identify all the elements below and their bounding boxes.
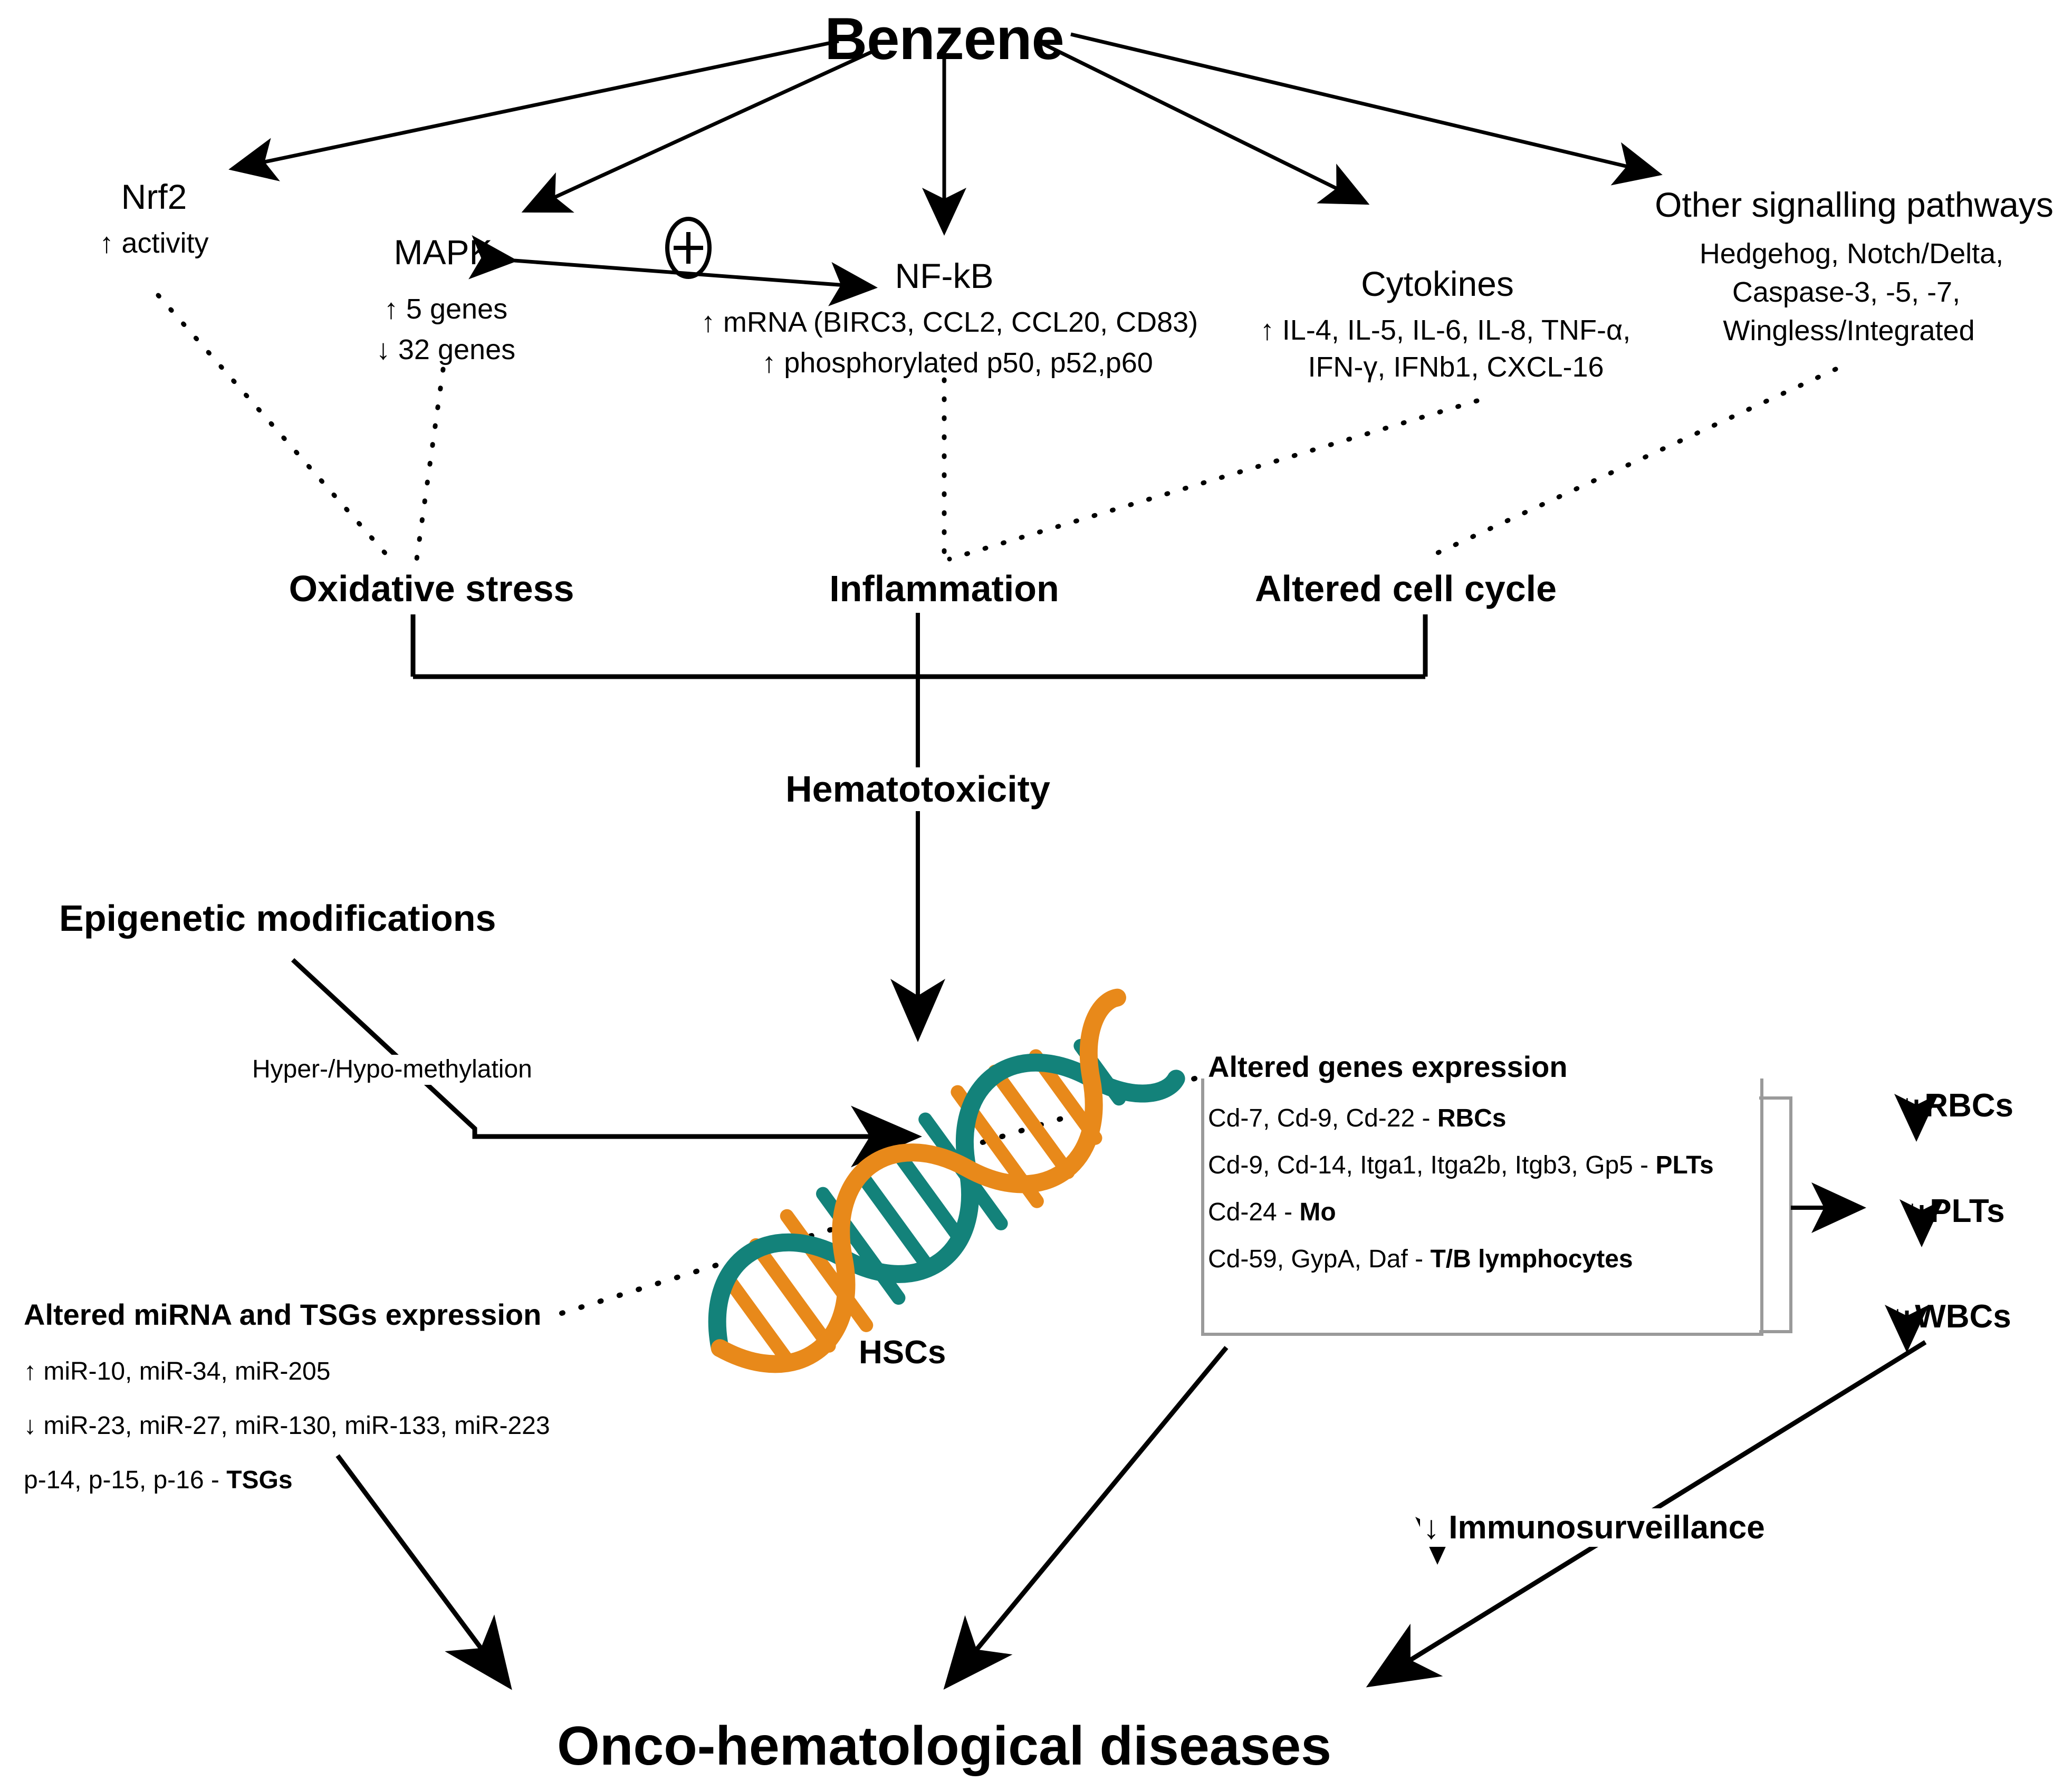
node-mapk-detail-up: ↑ 5 genes — [384, 293, 507, 326]
dotted-genes-box-to-dna — [897, 1079, 1195, 1168]
dotted-genes-pointer — [897, 1079, 1195, 1168]
node-onco-hematological-diseases-label: Onco-hematological diseases — [557, 1714, 1331, 1779]
node-cytokines-detail-1: ↑ IL-4, IL-5, IL-6, IL-8, TNF-α, — [1260, 314, 1630, 348]
status-badge-rbcs: ↓ RBCs — [1899, 1086, 2013, 1125]
node-other-pathways-detail-2: Caspase-3, -5, -7, — [1732, 276, 1960, 310]
dotted-other-to-altered-cycle — [1424, 369, 1836, 559]
node-other-pathways-label: Other signalling pathways — [1655, 185, 2054, 226]
hematotoxicity-bracket — [413, 614, 1425, 677]
altered-genes-row: Cd-9, Cd-14, Itga1, Itga2b, Itgb3, Gp5 -… — [1208, 1151, 1767, 1180]
plus-symbol-marker — [667, 219, 709, 277]
node-mapk-detail-down: ↓ 32 genes — [376, 333, 515, 367]
altered-genes-row: Cd-7, Cd-9, Cd-22 - RBCs — [1208, 1104, 1767, 1133]
status-badge-wbcs: ↓ WBCs — [1889, 1297, 2011, 1336]
altered-genes-list: Cd-59, GypA, Daf - — [1208, 1245, 1430, 1273]
node-oxidative-stress-label: Oxidative stress — [289, 567, 574, 611]
node-nfkb-detail-2: ↑ phosphorylated p50, p52,p60 — [762, 346, 1153, 380]
node-immunosurveillance-label: ↓ Immunosurveillance — [1420, 1508, 1768, 1547]
mapk-nfkb-link — [514, 261, 874, 287]
node-cytokines-label: Cytokines — [1361, 264, 1514, 305]
altered-mirna-tsgs-row: p-14, p-15, p-16 - TSGs — [24, 1466, 683, 1495]
altered-genes-cell: T/B lymphocytes — [1430, 1245, 1633, 1273]
arrow-benzene-to-cytokines — [1042, 43, 1366, 203]
node-mapk-label: MAPK — [394, 232, 492, 273]
altered-mirna-panel: Altered miRNA and TSGs expression ↑ miR-… — [24, 1297, 683, 1495]
altered-genes-list: Cd-24 - — [1208, 1198, 1299, 1226]
dotted-mapk-to-oxidative — [417, 369, 443, 559]
node-inflammation-label: Inflammation — [829, 567, 1059, 611]
altered-genes-row: Cd-24 - Mo — [1208, 1198, 1767, 1227]
node-epigenetic-detail: Hyper-/Hypo-methylation — [248, 1055, 536, 1085]
node-cytokines-detail-2: IFN-γ, IFNb1, CXCL-16 — [1308, 351, 1604, 384]
node-other-pathways-detail-1: Hedgehog, Notch/Delta, — [1700, 237, 2003, 271]
arrow-benzene-to-other-pathways — [1071, 34, 1659, 174]
altered-mirna-downregulated: ↓ miR-23, miR-27, miR-130, miR-133, miR-… — [24, 1411, 683, 1440]
arrow-epigenetic-to-dna — [293, 960, 913, 1137]
altered-genes-heading: Altered genes expression — [1208, 1049, 1767, 1084]
altered-genes-list: Cd-9, Cd-14, Itga1, Itga2b, Itgb3, Gp5 - — [1208, 1151, 1655, 1179]
altered-genes-cell: RBCs — [1437, 1104, 1507, 1132]
altered-mirna-upregulated: ↑ miR-10, miR-34, miR-205 — [24, 1357, 683, 1386]
altered-genes-panel: Altered genes expression Cd-7, Cd-9, Cd-… — [1208, 1049, 1767, 1274]
node-altered-cell-cycle-label: Altered cell cycle — [1255, 567, 1557, 611]
page-title: Benzene — [824, 4, 1064, 74]
altered-mirna-heading: Altered miRNA and TSGs expression — [24, 1297, 683, 1332]
altered-mirna-tsgs-label: TSGs — [226, 1466, 292, 1494]
node-epigenetic-label: Epigenetic modifications — [59, 897, 496, 940]
node-hscs-label: HSCs — [859, 1333, 946, 1372]
altered-genes-cell: Mo — [1299, 1198, 1336, 1226]
arrow-benzene-to-nrf2 — [232, 41, 839, 169]
altered-genes-cell: PLTs — [1655, 1151, 1713, 1179]
node-nrf2-label: Nrf2 — [121, 177, 187, 218]
arrow-genes-to-onco — [949, 1347, 1226, 1682]
node-nrf2-detail: ↑ activity — [99, 227, 208, 261]
epigenetic-arrow — [293, 960, 913, 1137]
dotted-nrf2-to-oxidative — [158, 295, 390, 559]
arrow-benzene-to-mapk — [525, 50, 876, 211]
arrow-mapk-nfkb-bidirectional — [514, 261, 874, 287]
altered-mirna-tsgs-list: p-14, p-15, p-16 - — [24, 1466, 226, 1494]
node-nfkb-label: NF-kB — [895, 256, 994, 297]
status-badge-plts: ↓ PLTs — [1904, 1192, 2005, 1230]
altered-genes-list: Cd-7, Cd-9, Cd-22 - — [1208, 1104, 1437, 1132]
node-nfkb-detail-1: ↑ mRNA (BIRC3, CCL2, CCL20, CD83) — [701, 306, 1198, 340]
node-hematotoxicity-label: Hematotoxicity — [778, 767, 1058, 811]
diagram-canvas: Benzene Nrf2 ↑ activity MAPK ↑ 5 genes ↓… — [0, 0, 2072, 1791]
dotted-cytokines-to-inflammation — [949, 401, 1477, 559]
altered-genes-row: Cd-59, GypA, Daf - T/B lymphocytes — [1208, 1245, 1767, 1274]
dna-rungs — [718, 1018, 1139, 1375]
node-other-pathways-detail-3: Wingless/Integrated — [1723, 314, 1974, 348]
